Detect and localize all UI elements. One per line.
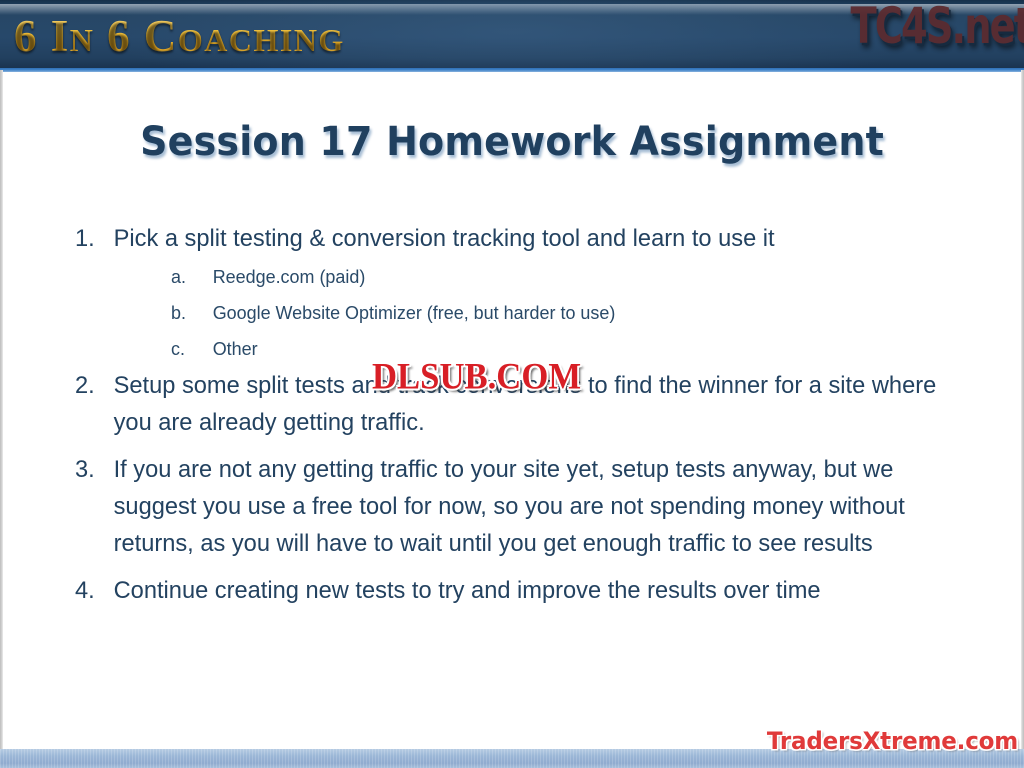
list-item-text: Google Website Optimizer (free, but hard… [213,295,616,331]
list-item: 1. Pick a split testing & conversion tra… [75,220,948,257]
list-item: a. Reedge.com (paid) [171,259,956,295]
tradersxtreme-com-watermark: TradersXtreme.com [767,728,1018,755]
header-accent-rule [0,68,1024,72]
list-item: b. Google Website Optimizer (free, but h… [171,295,956,331]
page-title: Session 17 Homework Assignment [28,119,995,165]
slide-content-area: Session 17 Homework Assignment 1. Pick a… [3,72,1021,749]
slide-header-bar: 6 In 6 Coaching TC4S.net [0,0,1024,68]
tc4s-net-watermark: TC4S.net [850,0,1024,56]
list-item-text: If you are not any getting traffic to yo… [114,451,949,562]
list-item: 4. Continue creating new tests to try an… [75,572,948,609]
list-item-text: Pick a split testing & conversion tracki… [114,220,949,257]
list-item-marker: 2. [75,367,114,404]
homework-outline-list: 1. Pick a split testing & conversion tra… [75,220,980,611]
list-item-text: Other [213,331,258,367]
list-item-marker: 4. [75,572,114,609]
slide-canvas: 6 In 6 Coaching TC4S.net Session 17 Home… [0,0,1024,768]
list-item-marker: 3. [75,451,114,488]
dlsub-com-watermark: DLSUB.COM [372,357,581,398]
list-item-marker: a. [171,259,213,295]
list-item-text: Continue creating new tests to try and i… [114,572,949,609]
list-item-marker: b. [171,295,213,331]
brand-logo-6in6-coaching: 6 In 6 Coaching [14,10,345,62]
list-item-marker: 1. [75,220,114,257]
list-item-text: Reedge.com (paid) [213,259,366,295]
list-item: 3. If you are not any getting traffic to… [75,451,948,562]
list-item-marker: c. [171,331,213,367]
slide-left-border [0,70,3,768]
